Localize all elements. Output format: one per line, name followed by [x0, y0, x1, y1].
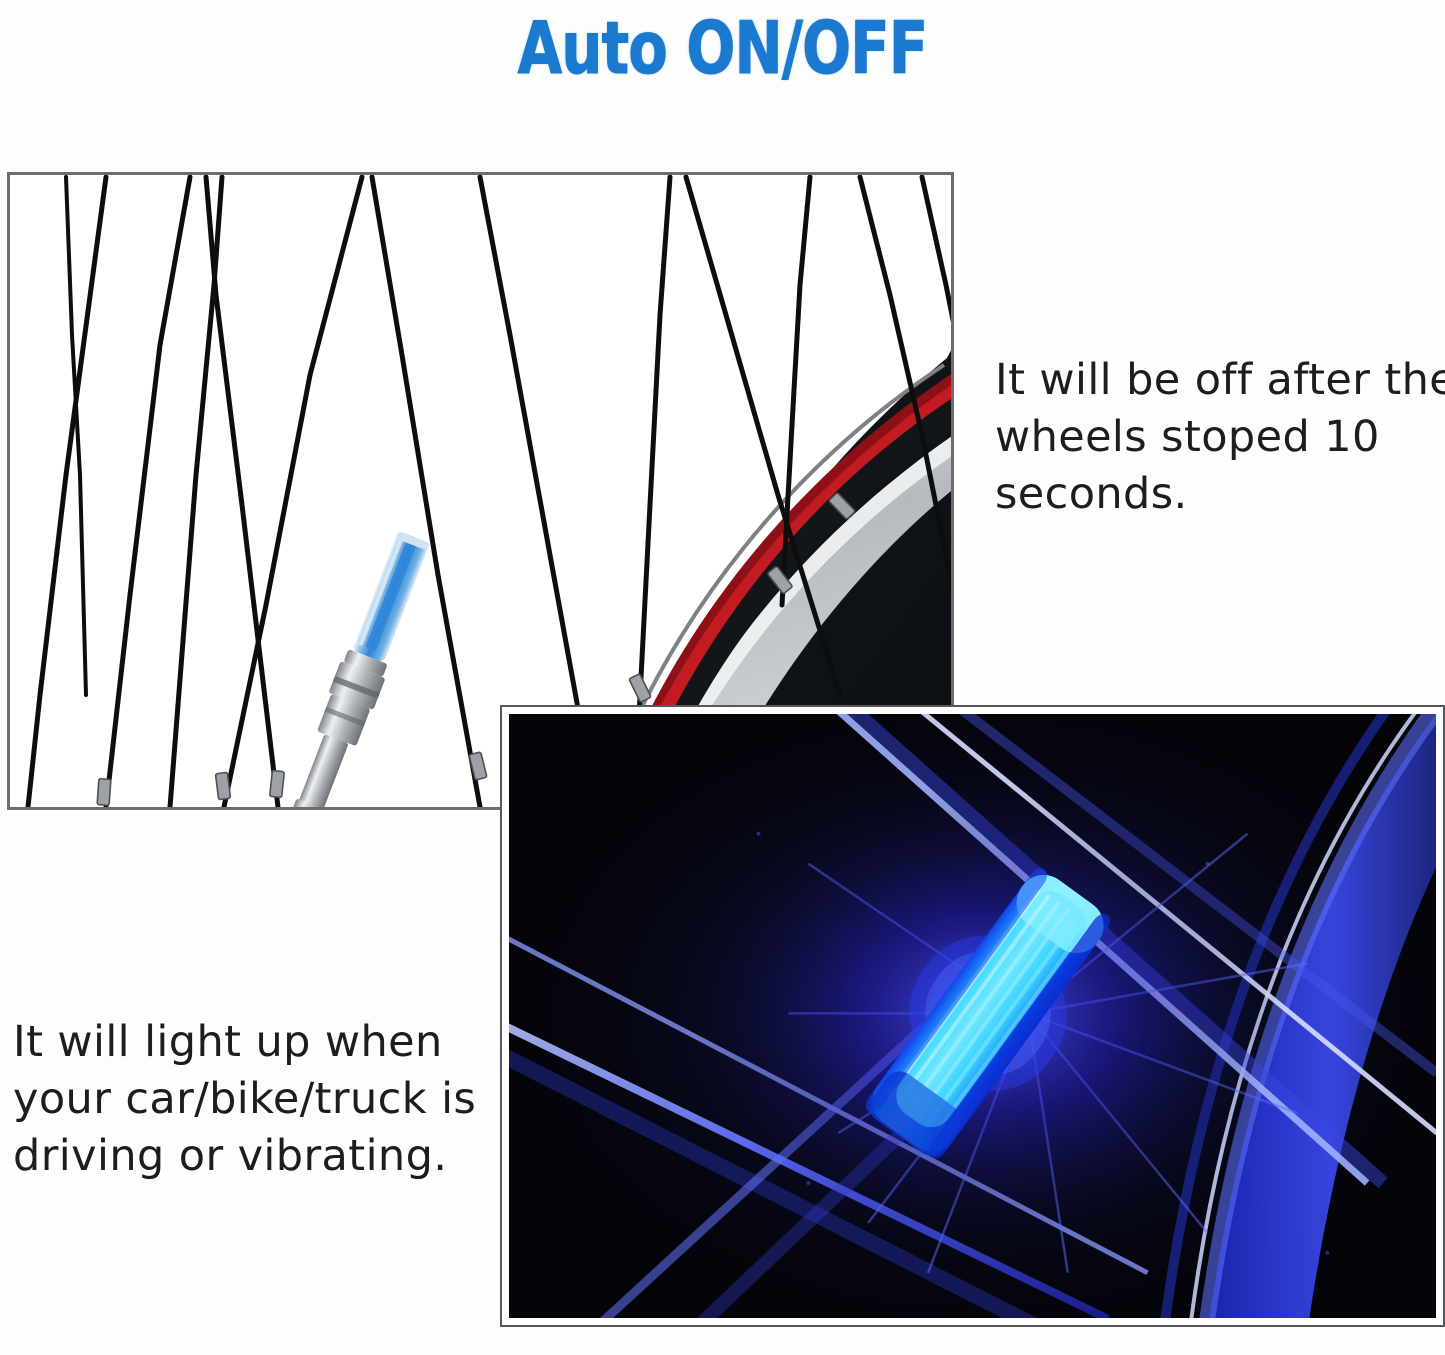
bicycle-wheel-night-glow-photo [500, 705, 1445, 1327]
caption-auto-off: It will be off after the wheels stoped 1… [995, 352, 1445, 523]
page-title: Auto ON/OFF [145, 8, 1301, 88]
caption-auto-on: It will light up when your car/bike/truc… [13, 1014, 513, 1185]
night-wheel-illustration [509, 714, 1436, 1318]
night-photo-inner [509, 714, 1436, 1318]
infographic-page: Auto ON/OFF [0, 0, 1445, 1355]
